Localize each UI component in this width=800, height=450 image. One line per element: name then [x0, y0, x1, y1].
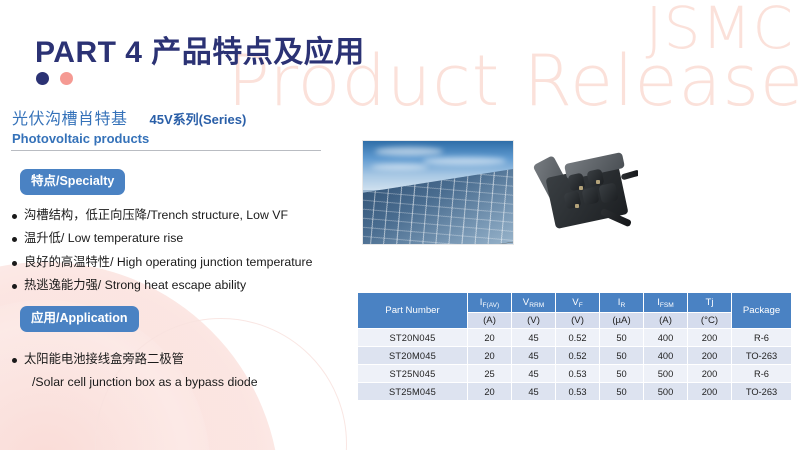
cell-if-av: 25 — [468, 365, 512, 383]
col-subscript: R — [620, 302, 625, 309]
cell-vrrm: 45 — [512, 329, 556, 347]
cell-ifsm: 500 — [644, 365, 688, 383]
bullet-icon — [12, 237, 17, 242]
cell-vrrm: 45 — [512, 383, 556, 401]
subtitle-chinese: 光伏沟槽肖特基 — [12, 105, 128, 129]
unit-ifsm: (A) — [644, 313, 688, 329]
cell-vf: 0.52 — [556, 347, 600, 365]
cell-ir: 50 — [600, 347, 644, 365]
bullet-icon — [12, 214, 17, 219]
cell-ir: 50 — [600, 383, 644, 401]
junction-box-pin — [579, 186, 583, 190]
list-item: 沟槽结构，低正向压降/Trench structure, Low VF — [12, 208, 312, 223]
cell-part-number: ST25M045 — [358, 383, 468, 401]
junction-box-pin — [575, 204, 579, 208]
cell-package: TO-263 — [732, 347, 792, 365]
list-item-label: 良好的高温特性/ High operating junction tempera… — [24, 255, 312, 270]
list-item-label: 温升低/ Low temperature rise — [24, 231, 183, 246]
cell-if-av: 20 — [468, 329, 512, 347]
table-header-row: Part Number IF(AV) VRRM VF IR IFSM Tj Pa… — [358, 293, 792, 313]
col-ir: IR — [600, 293, 644, 313]
specialty-list: 沟槽结构，低正向压降/Trench structure, Low VF 温升低/… — [12, 208, 312, 301]
specifications-table: Part Number IF(AV) VRRM VF IR IFSM Tj Pa… — [357, 292, 792, 401]
list-item-label: 太阳能电池接线盒旁路二极管 — [24, 352, 184, 367]
subtitle-series: 45V系列(Series) — [150, 109, 247, 128]
application-list: 太阳能电池接线盒旁路二极管 /Solar cell junction box a… — [12, 352, 258, 389]
col-subscript: F — [579, 302, 583, 309]
cell-if-av: 20 — [468, 383, 512, 401]
subtitle-row: 光伏沟槽肖特基 45V系列(Series) — [12, 105, 246, 129]
unit-vrrm: (V) — [512, 313, 556, 329]
junction-box-pin — [596, 180, 600, 184]
cell-tj: 200 — [688, 329, 732, 347]
table-row: ST25M045 20 45 0.53 50 500 200 TO-263 — [358, 383, 792, 401]
unit-if-av: (A) — [468, 313, 512, 329]
col-subscript: RRM — [529, 302, 544, 309]
cell-ir: 50 — [600, 365, 644, 383]
dot-pink-icon — [60, 72, 73, 85]
col-symbol: Tj — [706, 297, 714, 308]
list-item-label: 沟槽结构，低正向压降/Trench structure, Low VF — [24, 208, 288, 223]
junction-box-cable — [621, 170, 638, 181]
cell-ifsm: 400 — [644, 347, 688, 365]
solar-panel-photo — [362, 140, 514, 245]
page-title: PART 4 产品特点及应用 — [35, 27, 365, 71]
cell-ir: 50 — [600, 329, 644, 347]
cell-tj: 200 — [688, 347, 732, 365]
table-row: ST25N045 25 45 0.53 50 500 200 R-6 — [358, 365, 792, 383]
cell-ifsm: 500 — [644, 383, 688, 401]
junction-box-photo — [533, 142, 638, 242]
cloud-shape — [371, 164, 428, 170]
application-badge: 应用/Application — [20, 306, 139, 332]
col-vrrm: VRRM — [512, 293, 556, 313]
unit-ir: (µA) — [600, 313, 644, 329]
bullet-icon — [12, 284, 17, 289]
list-item-label: 热逃逸能力强/ Strong heat escape ability — [24, 278, 246, 293]
cell-part-number: ST20M045 — [358, 347, 468, 365]
decorative-dots — [36, 72, 73, 85]
specialty-badge: 特点/Specialty — [20, 169, 125, 195]
cell-package: TO-263 — [732, 383, 792, 401]
unit-vf: (V) — [556, 313, 600, 329]
col-package: Package — [732, 293, 792, 329]
cell-package: R-6 — [732, 365, 792, 383]
header-divider — [11, 150, 321, 151]
table-row: ST20N045 20 45 0.52 50 400 200 R-6 — [358, 329, 792, 347]
watermark-jsmc: JSMC — [646, 0, 794, 62]
dot-navy-icon — [36, 72, 49, 85]
cell-vf: 0.52 — [556, 329, 600, 347]
col-ifsm: IFSM — [644, 293, 688, 313]
cell-vrrm: 45 — [512, 365, 556, 383]
cell-ifsm: 400 — [644, 329, 688, 347]
unit-tj: (°C) — [688, 313, 732, 329]
cell-part-number: ST20N045 — [358, 329, 468, 347]
table-row: ST20M045 20 45 0.52 50 400 200 TO-263 — [358, 347, 792, 365]
list-item: 良好的高温特性/ High operating junction tempera… — [12, 255, 312, 270]
col-tj: Tj — [688, 293, 732, 313]
cell-vf: 0.53 — [556, 383, 600, 401]
cloud-shape — [423, 157, 506, 164]
cell-part-number: ST25N045 — [358, 365, 468, 383]
list-item: 热逃逸能力强/ Strong heat escape ability — [12, 278, 312, 293]
col-subscript: F(AV) — [482, 302, 499, 309]
col-if-av: IF(AV) — [468, 293, 512, 313]
cell-tj: 200 — [688, 365, 732, 383]
col-vf: VF — [556, 293, 600, 313]
col-subscript: FSM — [660, 302, 674, 309]
cell-vf: 0.53 — [556, 365, 600, 383]
cell-if-av: 20 — [468, 347, 512, 365]
bullet-icon — [12, 358, 17, 363]
cell-tj: 200 — [688, 383, 732, 401]
cell-package: R-6 — [732, 329, 792, 347]
list-item-sublabel: /Solar cell junction box as a bypass dio… — [32, 375, 258, 389]
list-item: 太阳能电池接线盒旁路二极管 — [12, 352, 258, 367]
bullet-icon — [12, 261, 17, 266]
slide-canvas: JSMC Product Release PART 4 产品特点及应用 光伏沟槽… — [0, 0, 800, 450]
subtitle-english: Photovoltaic products — [12, 131, 149, 146]
col-part-number: Part Number — [358, 293, 468, 329]
cell-vrrm: 45 — [512, 347, 556, 365]
list-item: 温升低/ Low temperature rise — [12, 231, 312, 246]
col-symbol: V — [572, 297, 578, 308]
